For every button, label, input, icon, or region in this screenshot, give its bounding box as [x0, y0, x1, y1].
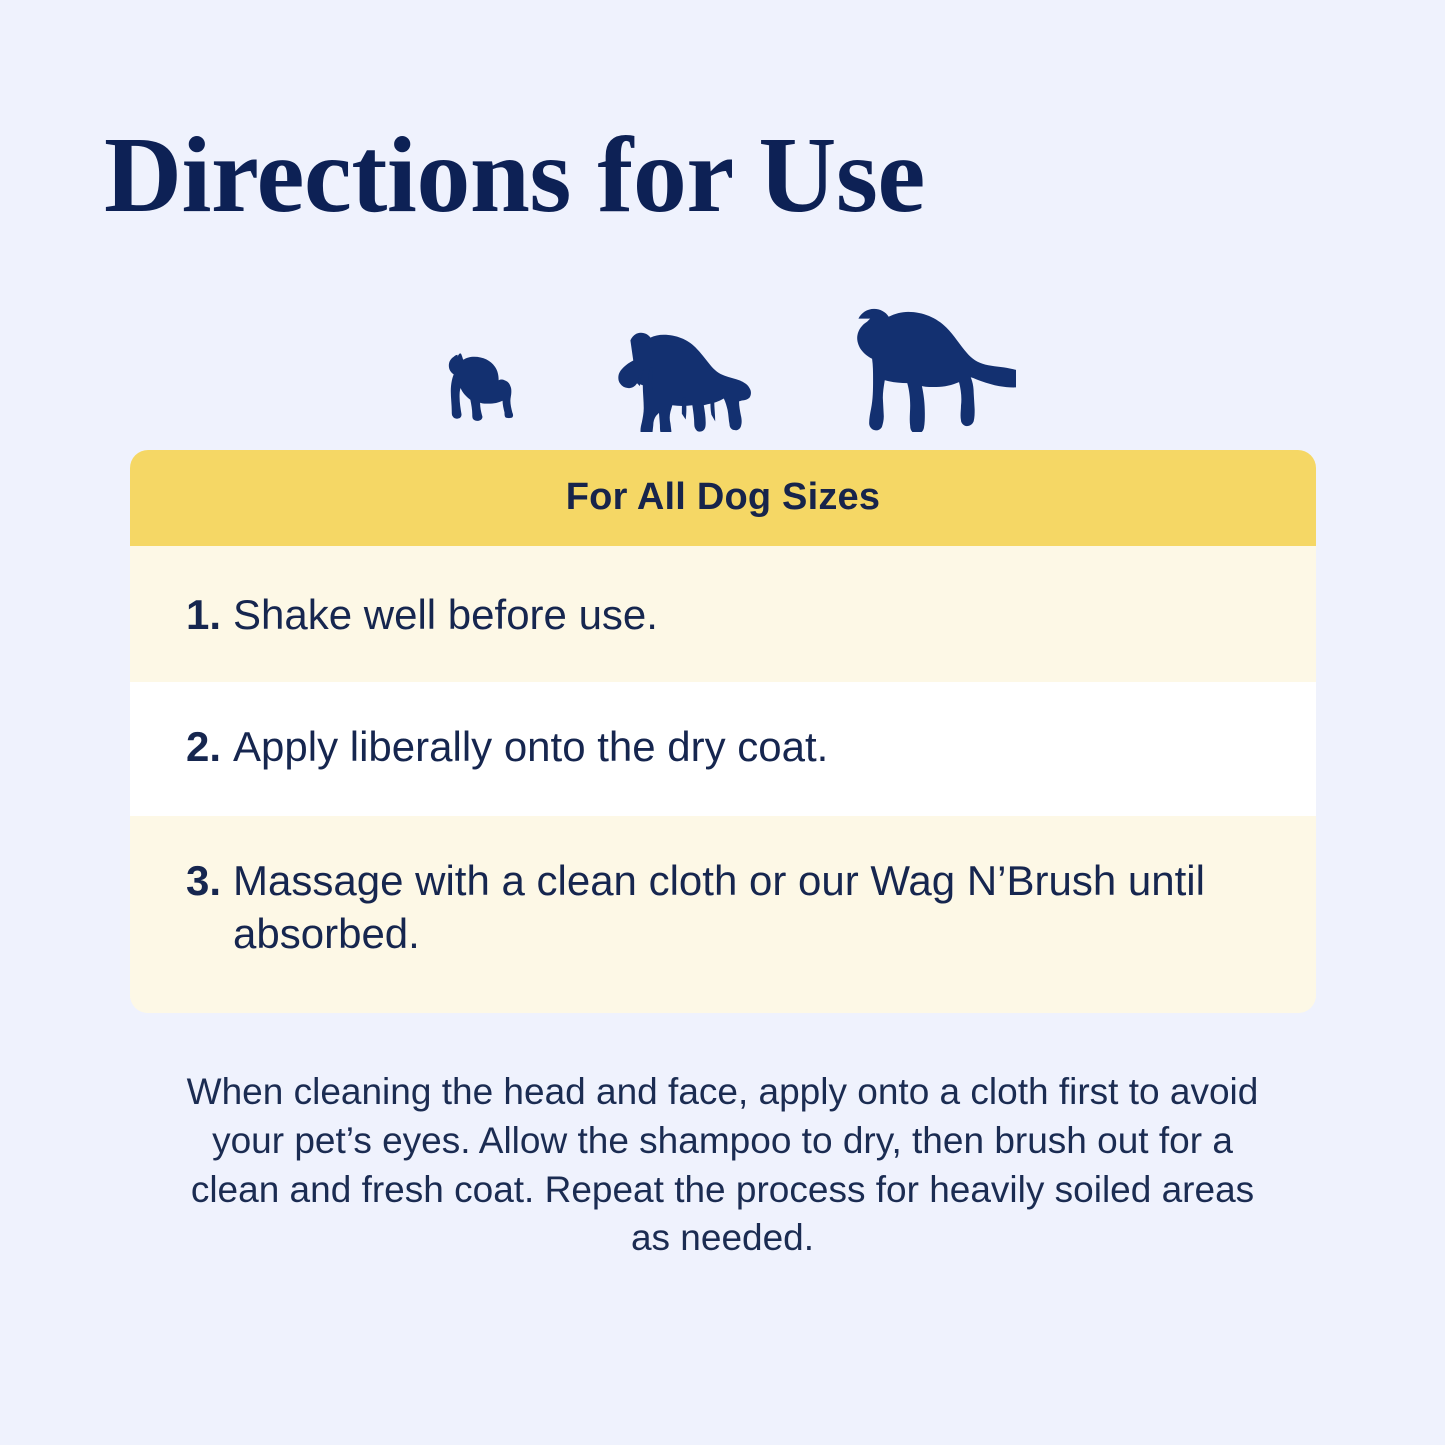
- footer-note: When cleaning the head and face, apply o…: [178, 1068, 1268, 1263]
- step-text: Apply liberally onto the dry coat.: [233, 720, 1253, 774]
- instruction-step-3: 3. Massage with a clean cloth or our Wag…: [130, 816, 1316, 1014]
- step-text: Shake well before use.: [233, 588, 1253, 642]
- instructions-card: For All Dog Sizes 1. Shake well before u…: [130, 450, 1316, 1013]
- small-dog-silhouette: [430, 348, 538, 432]
- step-number: 2.: [186, 720, 221, 774]
- directions-for-use-page: Directions for Use For All Dog Sizes 1. …: [0, 0, 1445, 1445]
- large-dog-silhouette: [820, 305, 1016, 432]
- step-number: 3.: [186, 854, 221, 908]
- instruction-step-1: 1. Shake well before use.: [130, 546, 1316, 682]
- instruction-step-2: 2. Apply liberally onto the dry coat.: [130, 682, 1316, 816]
- medium-dog-silhouette: [598, 327, 760, 432]
- page-title: Directions for Use: [104, 118, 925, 235]
- step-number: 1.: [186, 588, 221, 642]
- step-text: Massage with a clean cloth or our Wag N’…: [233, 854, 1253, 962]
- dog-size-illustration-row: [0, 288, 1445, 438]
- card-header-title: For All Dog Sizes: [130, 450, 1316, 546]
